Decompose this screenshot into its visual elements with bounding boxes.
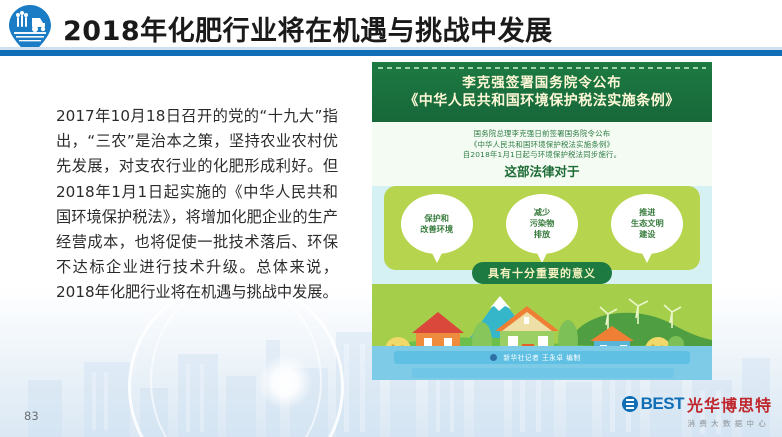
infographic-note: 国务院总理李克强日前签署国务院令公布 《中华人民共和国环境保护税法实施条例》 自… bbox=[372, 122, 712, 186]
credit-text: 新华社记者 王永卓 编制 bbox=[394, 352, 690, 362]
note-highlight: 这部法律对于 bbox=[384, 164, 700, 180]
benefit-band: 保护和 改善环境 减少 污染物 排放 推进 生态文明 建设 bbox=[384, 186, 700, 270]
brand-subtitle: 消费大数据中心 bbox=[622, 418, 770, 429]
bubble-line-2: 污染物 bbox=[530, 218, 555, 229]
benefit-bubble: 推进 生态文明 建设 bbox=[611, 194, 683, 254]
banner-line-2: 《中华人民共和国环境保护税法实施条例》 bbox=[372, 92, 712, 111]
glow-decoration bbox=[258, 355, 312, 409]
bubble-line-1: 减少 bbox=[530, 207, 555, 218]
bubble-line-2: 改善环境 bbox=[420, 224, 453, 235]
brand-mark-icon bbox=[622, 396, 638, 412]
page-title: 2018年化肥行业将在机遇与挑战中发展 bbox=[63, 9, 553, 48]
brand-name: BEST bbox=[641, 394, 684, 414]
bubble-line-2: 生态文明 bbox=[631, 218, 664, 229]
bubble-line-3: 建设 bbox=[631, 229, 664, 240]
credit-bar-secondary bbox=[412, 368, 674, 378]
infographic-card: 李克强签署国务院令公布 《中华人民共和国环境保护税法实施条例》 国务院总理李克强… bbox=[372, 62, 712, 380]
significance-pill: 具有十分重要的意义 bbox=[472, 262, 612, 284]
benefit-bubble: 减少 污染物 排放 bbox=[506, 194, 578, 254]
benefit-bubble: 保护和 改善环境 bbox=[401, 194, 473, 254]
credit-bar: 新华社记者 王永卓 编制 bbox=[394, 351, 690, 364]
bubble-line-3: 排放 bbox=[530, 229, 555, 240]
infographic-banner: 李克强签署国务院令公布 《中华人民共和国环境保护税法实施条例》 bbox=[372, 62, 712, 122]
page-number: 83 bbox=[24, 409, 39, 423]
village-illustration: 新华社记者 王永卓 编制 bbox=[372, 284, 712, 380]
bubble-line-1: 保护和 bbox=[420, 213, 453, 224]
brand-name-cn: 光华博思特 bbox=[687, 392, 772, 416]
pill-wrap: 具有十分重要的意义 bbox=[372, 262, 712, 284]
note-line-2: 《中华人民共和国环境保护税法实施条例》 bbox=[384, 140, 700, 151]
bubble-line-1: 推进 bbox=[631, 207, 664, 218]
title-rule bbox=[0, 50, 782, 56]
banner-line-1: 李克强签署国务院令公布 bbox=[372, 74, 712, 92]
note-line-3: 自2018年1月1日起与环境保护税法同步施行。 bbox=[384, 150, 700, 161]
body-paragraph: 2017年10月18日召开的党的“十九大”指出，“三农”是治本之策，坚持农业农村… bbox=[56, 104, 338, 306]
note-line-1: 国务院总理李克强日前签署国务院令公布 bbox=[384, 129, 700, 140]
slide: 2018年化肥行业将在机遇与挑战中发展 2017年10月18日召开的党的“十九大… bbox=[0, 0, 782, 437]
brand-logo: BEST 光华博思特 消费大数据中心 bbox=[622, 392, 772, 429]
